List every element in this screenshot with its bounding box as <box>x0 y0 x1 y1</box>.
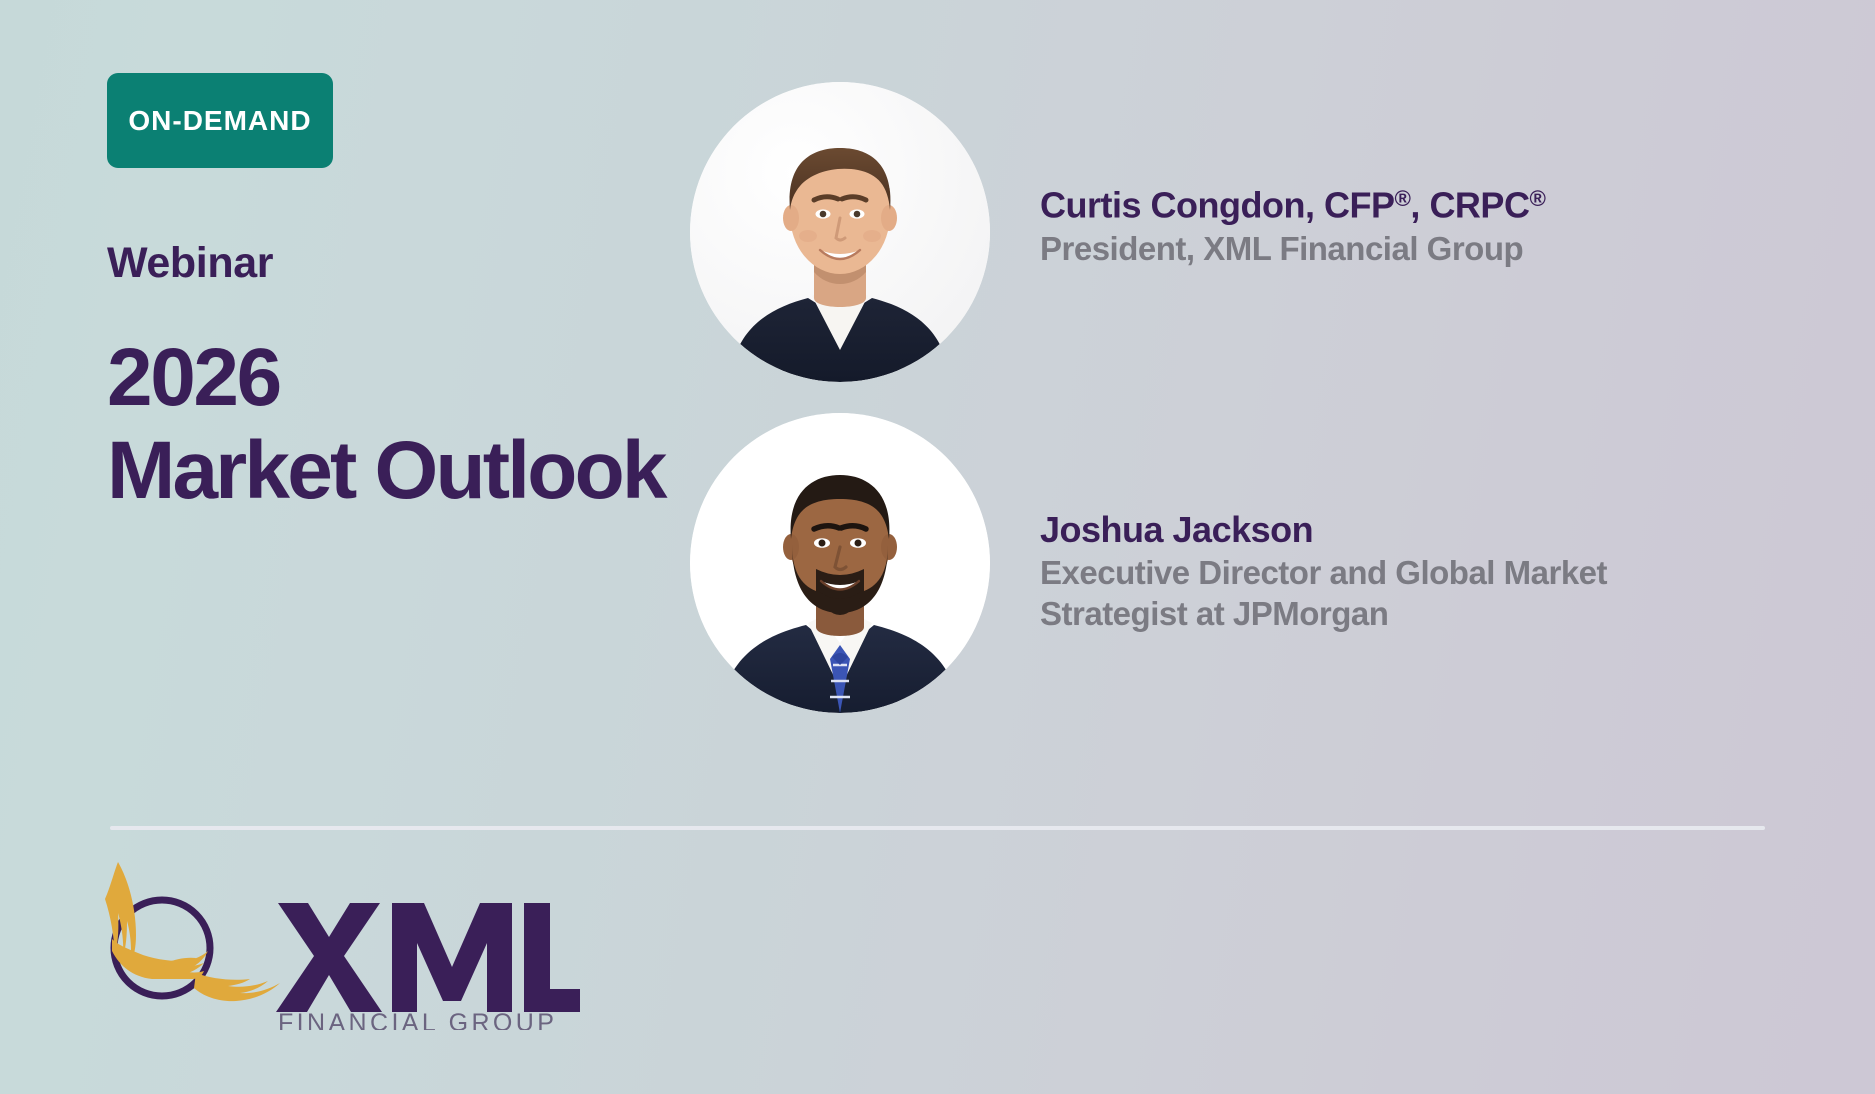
divider <box>110 826 1765 830</box>
on-demand-badge-label: ON-DEMAND <box>128 107 311 135</box>
title-line-year: 2026 <box>107 331 665 424</box>
speaker-name-base: Curtis Congdon, CFP <box>1040 185 1394 226</box>
speaker-name: Curtis Congdon, CFP®, CRPC® <box>1040 177 1545 228</box>
speaker-role-line-2: Strategist at JPMorgan <box>1040 593 1607 634</box>
eyebrow-label: Webinar <box>107 242 273 285</box>
speaker-card-1: Curtis Congdon, CFP®, CRPC® President, X… <box>690 82 1545 382</box>
page-title: 2026 Market Outlook <box>107 331 665 517</box>
logo-tagline-text: FINANCIAL GROUP <box>278 1009 557 1030</box>
speaker-credential: CRPC <box>1429 185 1529 226</box>
on-demand-badge: ON-DEMAND <box>107 73 333 168</box>
speaker-name: Joshua Jackson <box>1040 508 1607 552</box>
headshot-joshua-jackson-image <box>690 413 990 713</box>
title-line-subject: Market Outlook <box>107 424 665 517</box>
avatar <box>690 82 990 382</box>
speaker-role-line-1: Executive Director and Global Market <box>1040 552 1607 593</box>
speaker-card-2: Joshua Jackson Executive Director and Gl… <box>690 413 1607 713</box>
headshot-curtis-congdon-image <box>690 82 990 382</box>
speaker-role: President, XML Financial Group <box>1040 228 1545 269</box>
xml-financial-group-logo: FINANCIAL GROUP <box>100 855 580 1030</box>
registered-mark-icon: ® <box>1529 186 1545 211</box>
registered-mark-icon: ® <box>1394 186 1410 211</box>
logo-wordmark-text <box>276 903 580 1012</box>
logo-artwork: FINANCIAL GROUP <box>100 855 580 1030</box>
webinar-promo-banner: ON-DEMAND Webinar 2026 Market Outlook <box>0 0 1875 1094</box>
avatar <box>690 413 990 713</box>
